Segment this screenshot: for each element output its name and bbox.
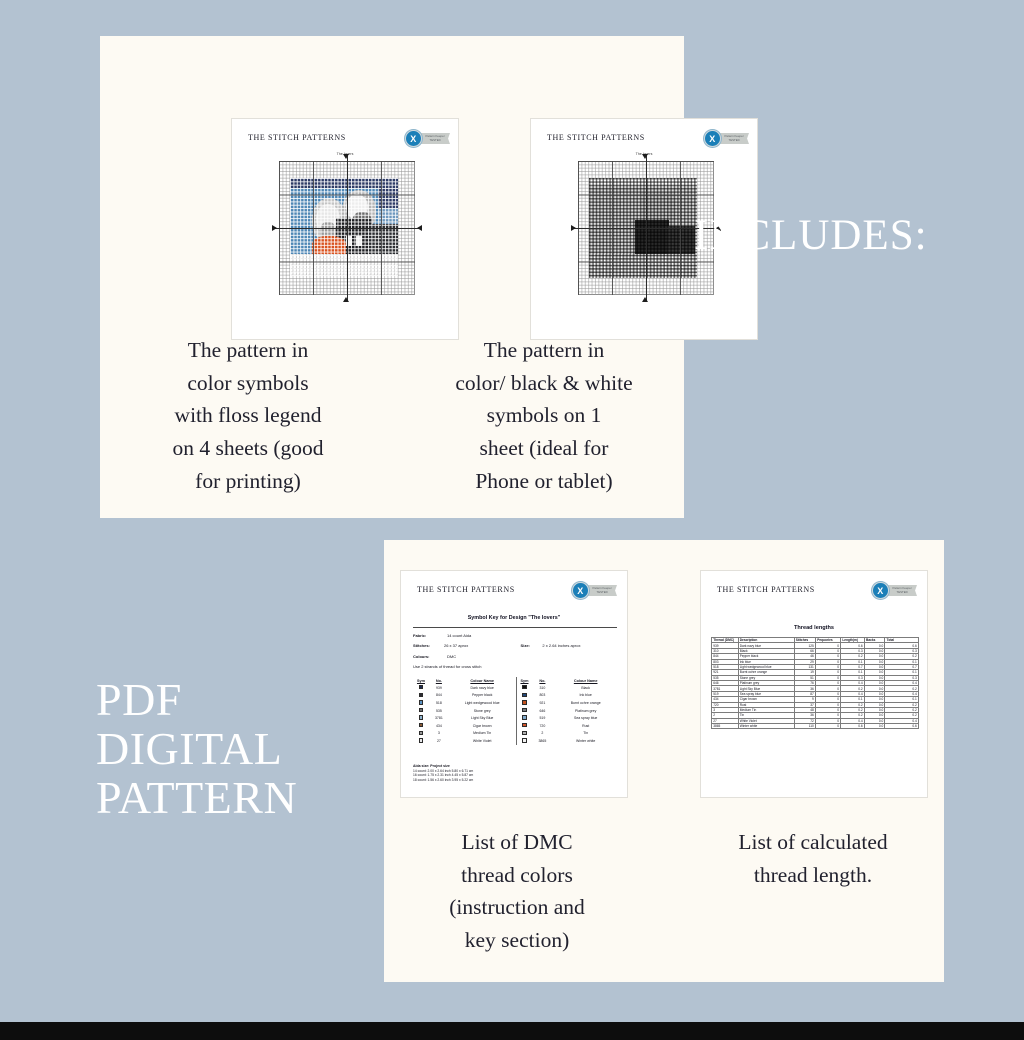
thread-number-cell: 434 [429, 722, 449, 730]
symbol-swatch-cell [516, 714, 532, 722]
color-symbol-icon [419, 723, 423, 727]
pdf-heading-line1: PDF [96, 676, 396, 725]
chart-center-line-horizontal [273, 228, 421, 229]
caption-thread-length: List of calculated thread length. [700, 826, 926, 891]
colour-name-cell: Ink blue [552, 692, 619, 700]
len-col-thread: Thread (DMC) [712, 638, 739, 643]
caption-line: List of calculated [700, 826, 926, 859]
colour-name-cell: White Violet [449, 737, 516, 745]
colour-name-cell: Light Sky Blue [449, 714, 516, 722]
thread-number-cell: 518 [429, 699, 449, 707]
color-symbol-icon [419, 715, 423, 719]
thread-lengths-table: Thread (DMC) Description Stitches Pequor… [711, 637, 919, 729]
caption-line: sheet (ideal for [420, 432, 668, 465]
caption-line: thread length. [700, 859, 926, 892]
length-cell: 0.6 [841, 724, 865, 729]
caption-line: symbols on 1 [420, 399, 668, 432]
color-symbol-icon [522, 715, 526, 719]
symbol-swatch-cell [516, 729, 532, 737]
caption-line: color symbols [126, 367, 370, 400]
colour-name-cell: Black [552, 684, 619, 692]
badge-ribbon-line2: TESTED [724, 139, 743, 142]
pattern-keeper-badge-bw: X Pattern Keeper TESTED [704, 130, 749, 147]
caption-line: color/ black & white [420, 367, 668, 400]
spec-label: Colours: [413, 654, 447, 659]
aida-size-note: Aida size: Project size 14 count: 2.00 x… [413, 764, 473, 783]
thread-number-cell: 720 [532, 722, 552, 730]
thread-number-cell: 844 [429, 692, 449, 700]
key-col-no-2: No. [532, 677, 552, 684]
caption-line: The pattern in [126, 334, 370, 367]
thread-lengths-sheet[interactable]: THE STITCH PATTERNS X Pattern Keeper TES… [700, 570, 928, 798]
colour-name-cell: Burnt ochre orange [552, 699, 619, 707]
thread-number-cell: 310 [532, 684, 552, 692]
caption-line: with floss legend [126, 399, 370, 432]
key-table-row: 844Pepper black803Ink blue [413, 692, 619, 700]
thread-number-cell: 2 [532, 729, 552, 737]
spec-row-stitches: Stitches: 26 x 37 aprox Size: 2 x 2.64 i… [413, 643, 619, 648]
badge-ribbon: Pattern Keeper TESTED [885, 585, 917, 596]
badge-ribbon: Pattern Keeper TESTED [418, 133, 450, 144]
key-col-name-2: Colour Name [552, 677, 619, 684]
key-table-row: 3781Light Sky Blue519Sea spray blue [413, 714, 619, 722]
colour-name-cell: Tin [552, 729, 619, 737]
caption-line: on 4 sheets (good [126, 432, 370, 465]
colour-name-cell: Stone grey [449, 707, 516, 715]
colour-name-cell: Rust [552, 722, 619, 730]
dmc-symbol-key-sheet[interactable]: THE STITCH PATTERNS X Pattern Keeper TES… [400, 570, 628, 798]
colour-name-cell: Sea spray blue [552, 714, 619, 722]
sheet-brand-title-len: THE STITCH PATTERNS [717, 585, 815, 594]
thread-desc-cell: Winter white [738, 724, 794, 729]
pdf-heading-line3: PATTERN [96, 774, 396, 823]
backs-cell: 0.0 [864, 724, 885, 729]
spec-row-colours: Colours: DMC [413, 654, 619, 659]
thread-number-cell: 27 [429, 737, 449, 745]
key-table-row: 535Stone grey646Platinum grey [413, 707, 619, 715]
colour-name-cell: Pepper black [449, 692, 516, 700]
thread-number-cell: 939 [429, 684, 449, 692]
key-table-header-row: Sym No. Colour Name Sym No. Colour Name [413, 677, 619, 684]
symbol-swatch-cell [516, 684, 532, 692]
thread-number-cell: 535 [429, 707, 449, 715]
symbol-swatch-cell [413, 699, 429, 707]
chart-marker-bottom-icon [343, 297, 349, 302]
key-table-row: 434Cigar brown720Rust [413, 722, 619, 730]
thread-number-cell: 646 [532, 707, 552, 715]
color-symbol-icon [419, 731, 423, 735]
caption-bw-chart: The pattern in color/ black & white symb… [420, 334, 668, 497]
symbol-swatch-cell [413, 707, 429, 715]
pequories-cell: 0 [816, 724, 841, 729]
color-symbol-icon [522, 731, 526, 735]
chart-marker-right-icon [417, 225, 422, 231]
total-cell: 0.6 [885, 724, 919, 729]
symbol-swatch-cell [516, 707, 532, 715]
color-symbol-icon [522, 685, 526, 689]
spec-value-size: 2 x 2.64 inches aprox [542, 643, 619, 648]
color-symbol-icon [522, 723, 526, 727]
fabric-specs: Fabric: 14 count Aida Stitches: 26 x 37 … [413, 633, 619, 669]
chart-marker-left-icon [272, 225, 277, 231]
symbol-key-title: Symbol Key for Design "The lovers" [401, 615, 627, 621]
symbol-swatch-cell [413, 714, 429, 722]
key-table-row: 939Dark navy blue310Black [413, 684, 619, 692]
color-symbol-icon [522, 693, 526, 697]
colour-name-cell: Cigar brown [449, 722, 516, 730]
chart-marker-left-icon [571, 225, 576, 231]
badge-ribbon-line2: TESTED [892, 591, 911, 594]
colour-name-cell: Medium Tin [449, 729, 516, 737]
symbol-swatch-cell [413, 684, 429, 692]
spec-value: 14 count Aida [447, 633, 531, 638]
badge-seal-icon: X [872, 582, 889, 599]
color-symbol-icon [419, 708, 423, 712]
symbol-swatch-cell [413, 692, 429, 700]
caption-line: thread colors [412, 859, 622, 892]
badge-seal-icon: X [572, 582, 589, 599]
spec-label: Stitches: [413, 643, 444, 648]
chart-marker-bottom-icon [642, 297, 648, 302]
thread-number-cell: 3 [429, 729, 449, 737]
spec-value: DMC [447, 654, 531, 659]
color-symbol-icon [419, 700, 423, 704]
pdf-heading-line2: DIGITAL [96, 725, 396, 774]
bottom-bar [0, 1022, 1024, 1040]
pattern-keeper-badge-key: X Pattern Keeper TESTED [572, 582, 617, 599]
chart-marker-top-icon [343, 154, 349, 159]
key-col-sym-2: Sym [516, 677, 532, 684]
caption-line: List of DMC [412, 826, 622, 859]
key-table-row: 3Medium Tin2Tin [413, 729, 619, 737]
thread-code-cell: 3865 [712, 724, 739, 729]
pattern-keeper-badge-color: X Pattern Keeper TESTED [405, 130, 450, 147]
color-symbol-icon [522, 700, 526, 704]
color-chart-grid[interactable] [279, 161, 415, 295]
sheet-brand-title-color: THE STITCH PATTERNS [248, 133, 346, 142]
stitches-cell: 110 [794, 724, 815, 729]
color-symbol-chart-sheet[interactable]: THE STITCH PATTERNS X Pattern Keeper TES… [231, 118, 459, 340]
spec-label: Fabric: [413, 633, 447, 638]
symbol-swatch-cell [516, 692, 532, 700]
symbol-swatch-cell [413, 737, 429, 745]
key-table-row: 27White Violet3865Winter white [413, 737, 619, 745]
thread-number-cell: 3781 [429, 714, 449, 722]
color-symbol-icon [419, 738, 423, 742]
colour-name-cell: Platinum grey [552, 707, 619, 715]
chart-marker-top-icon [642, 154, 648, 159]
badge-ribbon: Pattern Keeper TESTED [585, 585, 617, 596]
symbol-swatch-cell [516, 722, 532, 730]
thread-number-cell: 803 [532, 692, 552, 700]
symbol-swatch-cell [413, 729, 429, 737]
thread-length-row: 3865Winter white11000.60.00.6 [712, 724, 919, 729]
symbol-key-table: Sym No. Colour Name Sym No. Colour Name … [413, 677, 619, 745]
colour-name-cell: Winter white [552, 737, 619, 745]
color-symbol-icon [419, 685, 423, 689]
caption-line: key section) [412, 924, 622, 957]
caption-line: for printing) [126, 465, 370, 498]
key-col-no: No. [429, 677, 449, 684]
spec-label-size: Size: [521, 643, 543, 648]
strands-note: Use 2 strands of thread for cross stitch [413, 664, 619, 669]
key-col-sym: Sym [413, 677, 429, 684]
includes-heading: INCLUDES: [694, 214, 1014, 257]
caption-color-chart: The pattern in color symbols with floss … [126, 334, 370, 497]
caption-dmc-list: List of DMC thread colors (instruction a… [412, 826, 622, 957]
thread-lengths-title: Thread lengths [701, 625, 927, 631]
color-symbol-icon [419, 693, 423, 697]
aida-note-row: 18 count: 1.56 x 2.60 inch 3.95 x 5.22 c… [413, 778, 473, 783]
thread-number-cell: 519 [532, 714, 552, 722]
spec-value: 26 x 37 aprox [444, 643, 521, 648]
poster-canvas: THE STITCH PATTERNS X Pattern Keeper TES… [0, 0, 1024, 1040]
symbol-swatch-cell [516, 699, 532, 707]
badge-ribbon: Pattern Keeper TESTED [717, 133, 749, 144]
pdf-digital-pattern-heading: PDF DIGITAL PATTERN [96, 676, 396, 822]
key-col-name: Colour Name [449, 677, 516, 684]
key-divider-top [413, 627, 617, 628]
symbol-swatch-cell [413, 722, 429, 730]
sheet-brand-title-key: THE STITCH PATTERNS [417, 585, 515, 594]
color-symbol-icon [522, 708, 526, 712]
spec-row-fabric: Fabric: 14 count Aida [413, 633, 619, 638]
badge-ribbon-line2: TESTED [592, 591, 611, 594]
colour-name-cell: Light wedgewood blue [449, 699, 516, 707]
caption-line: The pattern in [420, 334, 668, 367]
thread-number-cell: 3865 [532, 737, 552, 745]
symbol-swatch-cell [516, 737, 532, 745]
caption-line: (instruction and [412, 891, 622, 924]
thread-number-cell: 921 [532, 699, 552, 707]
badge-seal-icon: X [405, 130, 422, 147]
badge-seal-icon: X [704, 130, 721, 147]
key-table-row: 518Light wedgewood blue921Burnt ochre or… [413, 699, 619, 707]
badge-ribbon-line2: TESTED [425, 139, 444, 142]
pattern-keeper-badge-len: X Pattern Keeper TESTED [872, 582, 917, 599]
caption-line: Phone or tablet) [420, 465, 668, 498]
color-symbol-icon [522, 738, 526, 742]
sheet-brand-title-bw: THE STITCH PATTERNS [547, 133, 645, 142]
colour-name-cell: Dark navy blue [449, 684, 516, 692]
